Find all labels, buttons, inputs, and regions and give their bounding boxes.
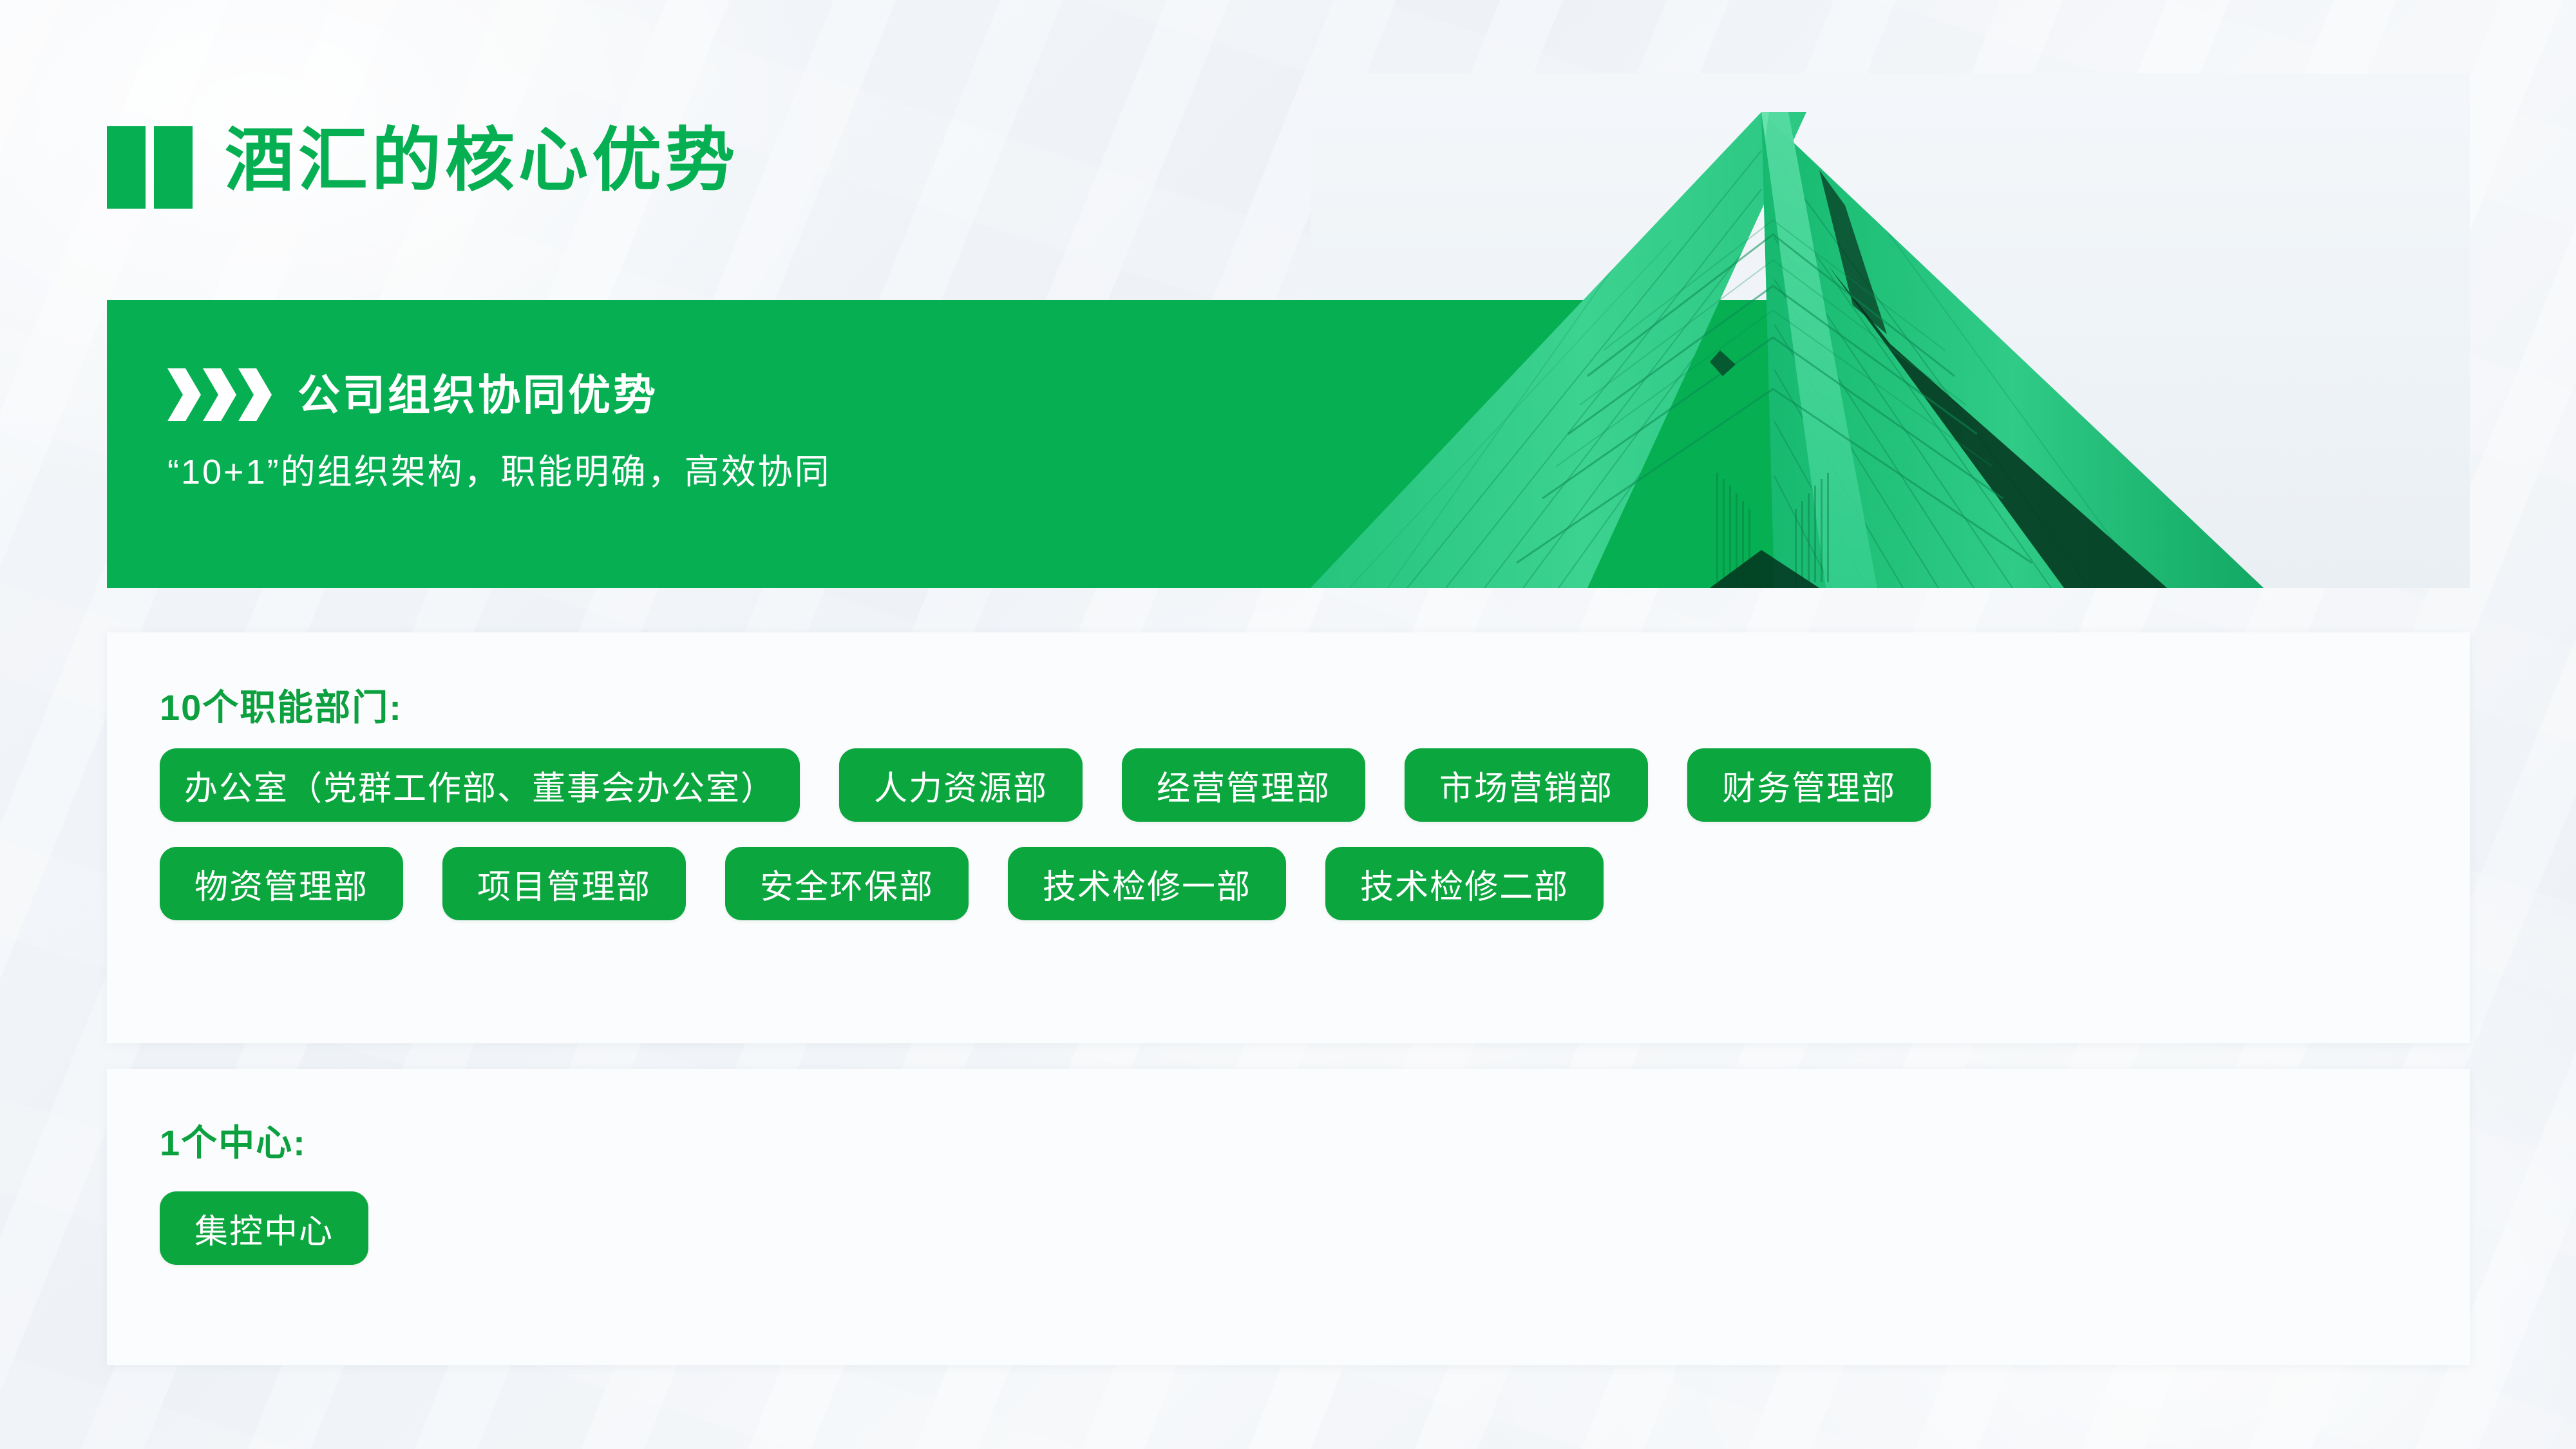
department-pill[interactable]: 安全环保部 — [725, 847, 969, 920]
center-pill-rows: 集控中心 — [160, 1191, 368, 1265]
department-pill[interactable]: 经营管理部 — [1122, 748, 1365, 822]
department-pill[interactable]: 办公室（党群工作部、董事会办公室） — [160, 748, 800, 822]
banner-heading: 公司组织协同优势 — [298, 374, 658, 416]
page-title-block: 酒汇的核心优势 — [107, 126, 739, 209]
banner-subtitle: “10+1”的组织架构，职能明确，高效协同 — [167, 455, 831, 489]
department-pill[interactable]: 人力资源部 — [839, 748, 1083, 822]
pill-row: 物资管理部 项目管理部 安全环保部 技术检修一部 技术检修二部 — [160, 847, 1931, 920]
departments-card-label: 10个职能部门: — [160, 679, 402, 731]
department-pill[interactable]: 市场营销部 — [1405, 748, 1648, 822]
department-pill[interactable]: 技术检修一部 — [1008, 847, 1286, 920]
department-pill[interactable]: 技术检修二部 — [1325, 847, 1604, 920]
center-card: 1个中心: 集控中心 — [107, 1069, 2470, 1365]
section-banner: 公司组织协同优势 “10+1”的组织架构，职能明确，高效协同 — [107, 300, 2470, 588]
department-pill[interactable]: 物资管理部 — [160, 847, 403, 920]
banner-text-block: 公司组织协同优势 “10+1”的组织架构，职能明确，高效协同 — [167, 368, 831, 489]
departments-pill-rows: 办公室（党群工作部、董事会办公室） 人力资源部 经营管理部 市场营销部 财务管理… — [160, 748, 1931, 920]
center-card-label: 1个中心: — [160, 1114, 307, 1166]
department-pill[interactable]: 财务管理部 — [1687, 748, 1931, 822]
pill-row: 集控中心 — [160, 1191, 368, 1265]
building-photo — [1311, 73, 2470, 588]
pill-row: 办公室（党群工作部、董事会办公室） 人力资源部 经营管理部 市场营销部 财务管理… — [160, 748, 1931, 822]
triple-chevron-right-icon — [167, 368, 272, 421]
department-pill[interactable]: 项目管理部 — [442, 847, 686, 920]
slide-canvas: 酒汇的核心优势 — [0, 0, 2576, 1449]
center-pill[interactable]: 集控中心 — [160, 1191, 368, 1265]
page-title: 酒汇的核心优势 — [225, 126, 739, 194]
departments-card: 10个职能部门: 办公室（党群工作部、董事会办公室） 人力资源部 经营管理部 市… — [107, 632, 2470, 1043]
title-accent-bar-1 — [107, 126, 146, 209]
title-accent-bar-2 — [154, 126, 193, 209]
building-illustration-icon — [1311, 73, 2470, 588]
